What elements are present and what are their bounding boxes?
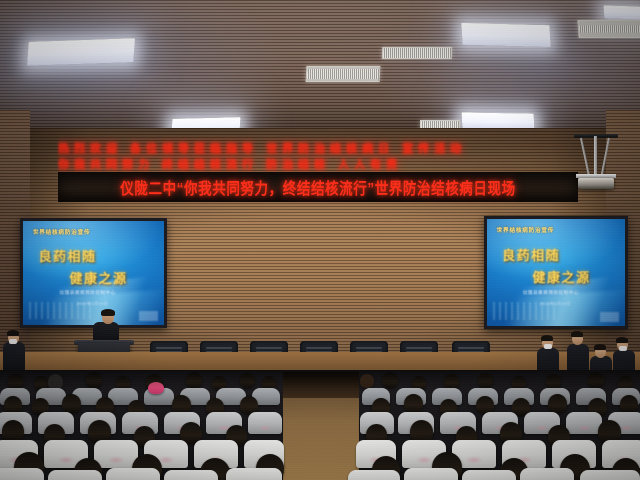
slide-date: 2023年3月24日 [77,301,109,307]
seat-cover-motif [577,425,591,431]
hvac-vent [382,47,452,59]
audience-seat [462,470,516,480]
audience-seat [106,468,160,480]
audience-seat [520,468,574,480]
audience-head [548,394,567,413]
chair-detail [256,347,282,349]
slide-heading: 世界结核病防治宣传 [33,228,91,236]
event-banner: 仪陇二中“你我共同努力，终结结核流行”世界防治结核病日现场 [58,172,578,202]
audience-head [62,394,81,413]
chair-detail [206,347,232,349]
projector-body [578,178,614,189]
standing-person-hair [616,337,628,343]
projector-brace-right [601,138,610,176]
led-line-2: 你我共同努力 终结结核流行 防治结核 人人有责 [58,156,578,172]
led-line-1: 热烈欢迎 各位领导莅临指导 世界防治结核病日 宣传活动 [58,140,578,156]
projection-screen-right: 世界结核病防治宣传 良药相随 健康之源 仪陇县疾病预防控制中心 2023年3月2… [484,216,628,329]
audience-seat [348,470,400,480]
chair-detail [406,347,432,349]
slide-main-line-2: 健康之源 [533,267,591,286]
hvac-vent [577,20,640,38]
ceiling-light-panel [27,38,135,66]
speaker-hair [101,309,115,316]
audience-head [404,394,423,413]
ceiling-projector [568,132,626,194]
audience-seat [580,470,640,480]
audience-shadow [0,370,640,388]
standing-person-hair [594,344,606,350]
audience-seat [48,470,102,480]
chair-detail [156,347,182,349]
audience-seat [0,468,44,480]
audience-area [0,370,640,480]
projector-pole [594,136,597,176]
audience-head [2,420,24,442]
audience-seat [248,412,282,434]
projector-brace-left [580,138,590,176]
slide-subtitle: 仪陇县疾病预防控制中心 [60,290,116,296]
led-scrolling-display: 热烈欢迎 各位领导莅临指导 世界防治结核病日 宣传活动 你我共同努力 终结结核流… [58,136,578,174]
slide-content-right: 世界结核病防治宣传 良药相随 健康之源 仪陇县疾病预防控制中心 2023年3月2… [487,219,625,326]
event-banner-text: 仪陇二中“你我共同努力，终结结核流行”世界防治结核病日现场 [120,175,515,199]
auditorium-photo: 热烈欢迎 各位领导莅临指导 世界防治结核病日 宣传活动 你我共同努力 终结结核流… [0,0,640,480]
hvac-vent [306,66,381,82]
audience-seat [566,412,602,434]
standing-person-hair [571,331,583,337]
ceiling-light-panel [461,23,551,47]
slide-date: 2023年3月24日 [539,301,571,307]
seat-cover-motif [535,425,549,431]
audience-seat [226,468,282,480]
chair-detail [356,347,382,349]
standing-person-hair [7,330,19,336]
ceiling [0,0,640,132]
chair-detail [306,347,332,349]
seat-cover-motif [619,425,633,431]
audience-seat [404,468,458,480]
slide-main-line-1: 良药相随 [502,245,560,264]
slide-main-line-2: 健康之源 [70,268,128,287]
slide-main-line-1: 良药相随 [39,246,97,265]
standing-person-hair [541,335,553,341]
seat-cover-motif [259,425,272,431]
slide-subtitle: 仪陇县疾病预防控制中心 [523,290,579,296]
audience-seat [94,440,138,468]
slide-logo [600,312,619,322]
slide-logo [139,311,159,320]
face-mask [619,346,627,351]
seat-cover-motif [108,456,125,464]
chair-detail [458,347,484,349]
seat-cover-motif [58,456,75,464]
slide-heading: 世界结核病防治宣传 [497,226,555,234]
face-mask [9,339,17,344]
ceiling-light-panel [603,5,640,19]
audience-head [620,395,638,413]
slide-content-left: 世界结核病防治宣传 良药相随 健康之源 仪陇县疾病预防控制中心 2023年3月2… [23,221,164,325]
seat-cover-motif [466,456,483,464]
seat-cover-motif [416,456,433,464]
projection-screen-left: 世界结核病防治宣传 良药相随 健康之源 仪陇县疾病预防控制中心 2023年3月2… [20,218,167,328]
face-mask [544,344,552,349]
audience-seat [164,470,218,480]
